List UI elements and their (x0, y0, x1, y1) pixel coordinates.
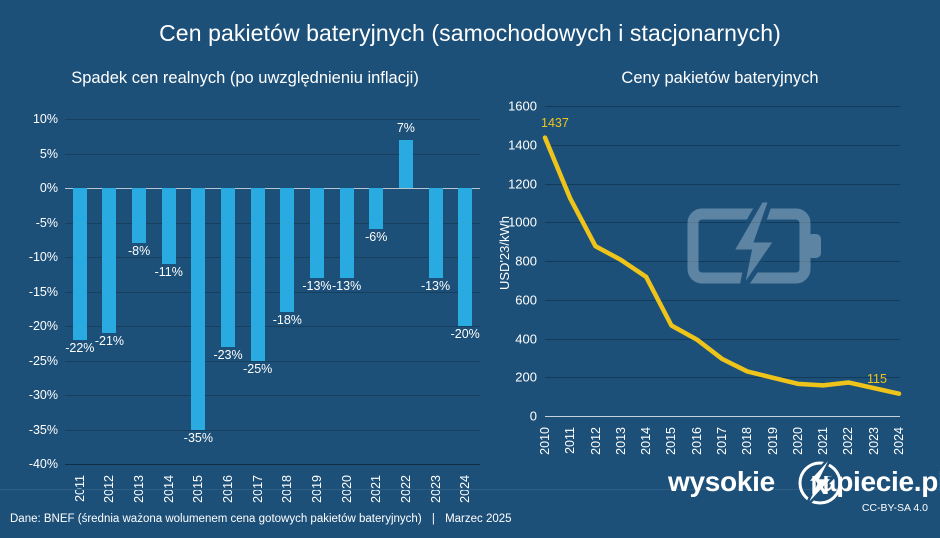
license-label: CC-BY-SA 4.0 (862, 502, 928, 514)
bar-value-label: -25% (243, 362, 272, 376)
bar-chart-gridline (65, 223, 480, 224)
bar-chart-x-tick: 2014 (162, 469, 176, 513)
line-chart-x-tick: 2012 (589, 421, 603, 465)
bar-chart-x-tick: 2015 (191, 469, 205, 513)
bar-chart-gridline (65, 430, 480, 431)
battery-charging-icon (685, 200, 825, 297)
bar-chart-x-tick: 2023 (429, 469, 443, 513)
bar-chart-x-tick: 2018 (280, 469, 294, 513)
line-chart-y-tick: 1200 (508, 176, 537, 191)
bar-value-label: -22% (65, 341, 94, 355)
bar-chart-y-tick: 0% (40, 181, 58, 195)
bar-chart-x-tick: 2022 (399, 469, 413, 513)
line-chart-x-tick: 2023 (867, 421, 881, 465)
bar[interactable] (399, 140, 413, 188)
last-point-label: 115 (867, 372, 887, 386)
line-chart-x-tick: 2010 (538, 421, 552, 465)
bar-chart-gridline (65, 361, 480, 362)
bar-chart-x-tick: 2011 (73, 469, 87, 513)
line-chart-y-tick: 400 (515, 331, 537, 346)
line-chart-x-tick: 2018 (740, 421, 754, 465)
bar[interactable] (132, 188, 146, 243)
line-chart-x-tick: 2016 (690, 421, 704, 465)
bar-chart-x-tick: 2016 (221, 469, 235, 513)
bar-chart-y-tick: -5% (36, 216, 58, 230)
bar-value-label: 7% (397, 121, 415, 135)
line-chart-y-tick: 800 (515, 254, 537, 269)
bar-chart-title: Spadek cen realnych (po uwzględnieniu in… (35, 68, 455, 89)
bar-value-label: -21% (95, 334, 124, 348)
line-chart-x-tick: 2024 (892, 421, 906, 465)
footer-separator: | (425, 513, 442, 525)
bar-chart-y-tick: -25% (29, 354, 58, 368)
line-chart-y-tick: 1000 (508, 215, 537, 230)
footer-source-text: Dane: BNEF (średnia ważona wolumenem cen… (10, 513, 422, 525)
bar-chart-y-tick: -15% (29, 285, 58, 299)
bar-chart-panel: Spadek cen realnych (po uwzględnieniu in… (0, 60, 490, 470)
first-point-label: 1437 (541, 116, 569, 130)
footer-date: Marzec 2025 (445, 513, 511, 525)
line-chart-x-tick: 2014 (639, 421, 653, 465)
bar-chart-plot-area: 10%5%0%-5%-10%-15%-20%-25%-30%-35%-40%-2… (65, 119, 480, 464)
bar-chart-x-tick: 2024 (458, 469, 472, 513)
bar-chart-y-tick: 5% (40, 147, 58, 161)
bar-chart-x-tick: 2019 (310, 469, 324, 513)
logo-text-part1: wysokie (668, 466, 775, 497)
line-chart-y-tick: 200 (515, 370, 537, 385)
line-chart-y-tick: 0 (530, 409, 537, 424)
bar-chart-x-tick: 2017 (251, 469, 265, 513)
bar-value-label: -13% (332, 279, 361, 293)
bar-chart-y-tick: -20% (29, 319, 58, 333)
bar[interactable] (310, 188, 324, 278)
bar[interactable] (221, 188, 235, 347)
bar-chart-x-tick: 2021 (369, 469, 383, 513)
logo-letter-n: N (811, 470, 830, 500)
line-chart-y-tick: 1400 (508, 137, 537, 152)
bar-chart-x-tick: 2013 (132, 469, 146, 513)
bar-chart-gridline (65, 119, 480, 120)
logo-lightning-n-icon: N (793, 454, 847, 508)
bar-chart-gridline (65, 464, 480, 465)
bar[interactable] (429, 188, 443, 278)
bar-chart-gridline (65, 292, 480, 293)
bar-value-label: -18% (273, 313, 302, 327)
bar[interactable] (280, 188, 294, 312)
bar-value-label: -6% (365, 230, 387, 244)
bar-chart-x-tick: 2020 (340, 469, 354, 513)
bar-chart-gridline (65, 154, 480, 155)
bar[interactable] (73, 188, 87, 340)
bar-value-label: -8% (128, 244, 150, 258)
bar-chart-y-tick: -10% (29, 250, 58, 264)
line-chart-gridline (545, 416, 900, 417)
line-chart-y-tick: 600 (515, 292, 537, 307)
footer-source-note: Dane: BNEF (średnia ważona wolumenem cen… (10, 513, 512, 525)
line-chart-x-tick: 2011 (563, 421, 577, 465)
bar-value-label: -35% (184, 431, 213, 445)
line-chart-title: Ceny pakietów bateryjnych (520, 68, 920, 89)
bar-value-label: -11% (155, 265, 183, 279)
bar[interactable] (162, 188, 176, 264)
page-title: Cen pakietów bateryjnych (samochodowych … (0, 20, 940, 47)
bar[interactable] (102, 188, 116, 333)
site-logo[interactable]: wysokieMMapiecie.pl N CC-BY-SA 4.0 (668, 466, 930, 508)
line-chart-x-tick: 2013 (614, 421, 628, 465)
bar-value-label: -13% (421, 279, 450, 293)
bar-value-label: -20% (451, 327, 480, 341)
bar[interactable] (458, 188, 472, 326)
bar-chart-y-tick: -35% (29, 423, 58, 437)
bar-chart-y-tick: -40% (29, 457, 58, 471)
line-chart-x-tick: 2015 (664, 421, 678, 465)
bar[interactable] (369, 188, 383, 229)
line-chart-x-tick: 2017 (715, 421, 729, 465)
bar-chart-gridline (65, 188, 480, 189)
bar-chart-gridline (65, 395, 480, 396)
bar[interactable] (251, 188, 265, 361)
bar-value-label: -23% (213, 348, 242, 362)
bar[interactable] (340, 188, 354, 278)
bar-chart-y-tick: 10% (33, 112, 58, 126)
line-chart-y-tick: 1600 (508, 99, 537, 114)
bar-chart-x-tick: 2012 (102, 469, 116, 513)
bar-value-label: -13% (302, 279, 331, 293)
bar-chart-y-tick: -30% (29, 388, 58, 402)
bar[interactable] (191, 188, 205, 430)
line-chart-x-tick: 2019 (766, 421, 780, 465)
